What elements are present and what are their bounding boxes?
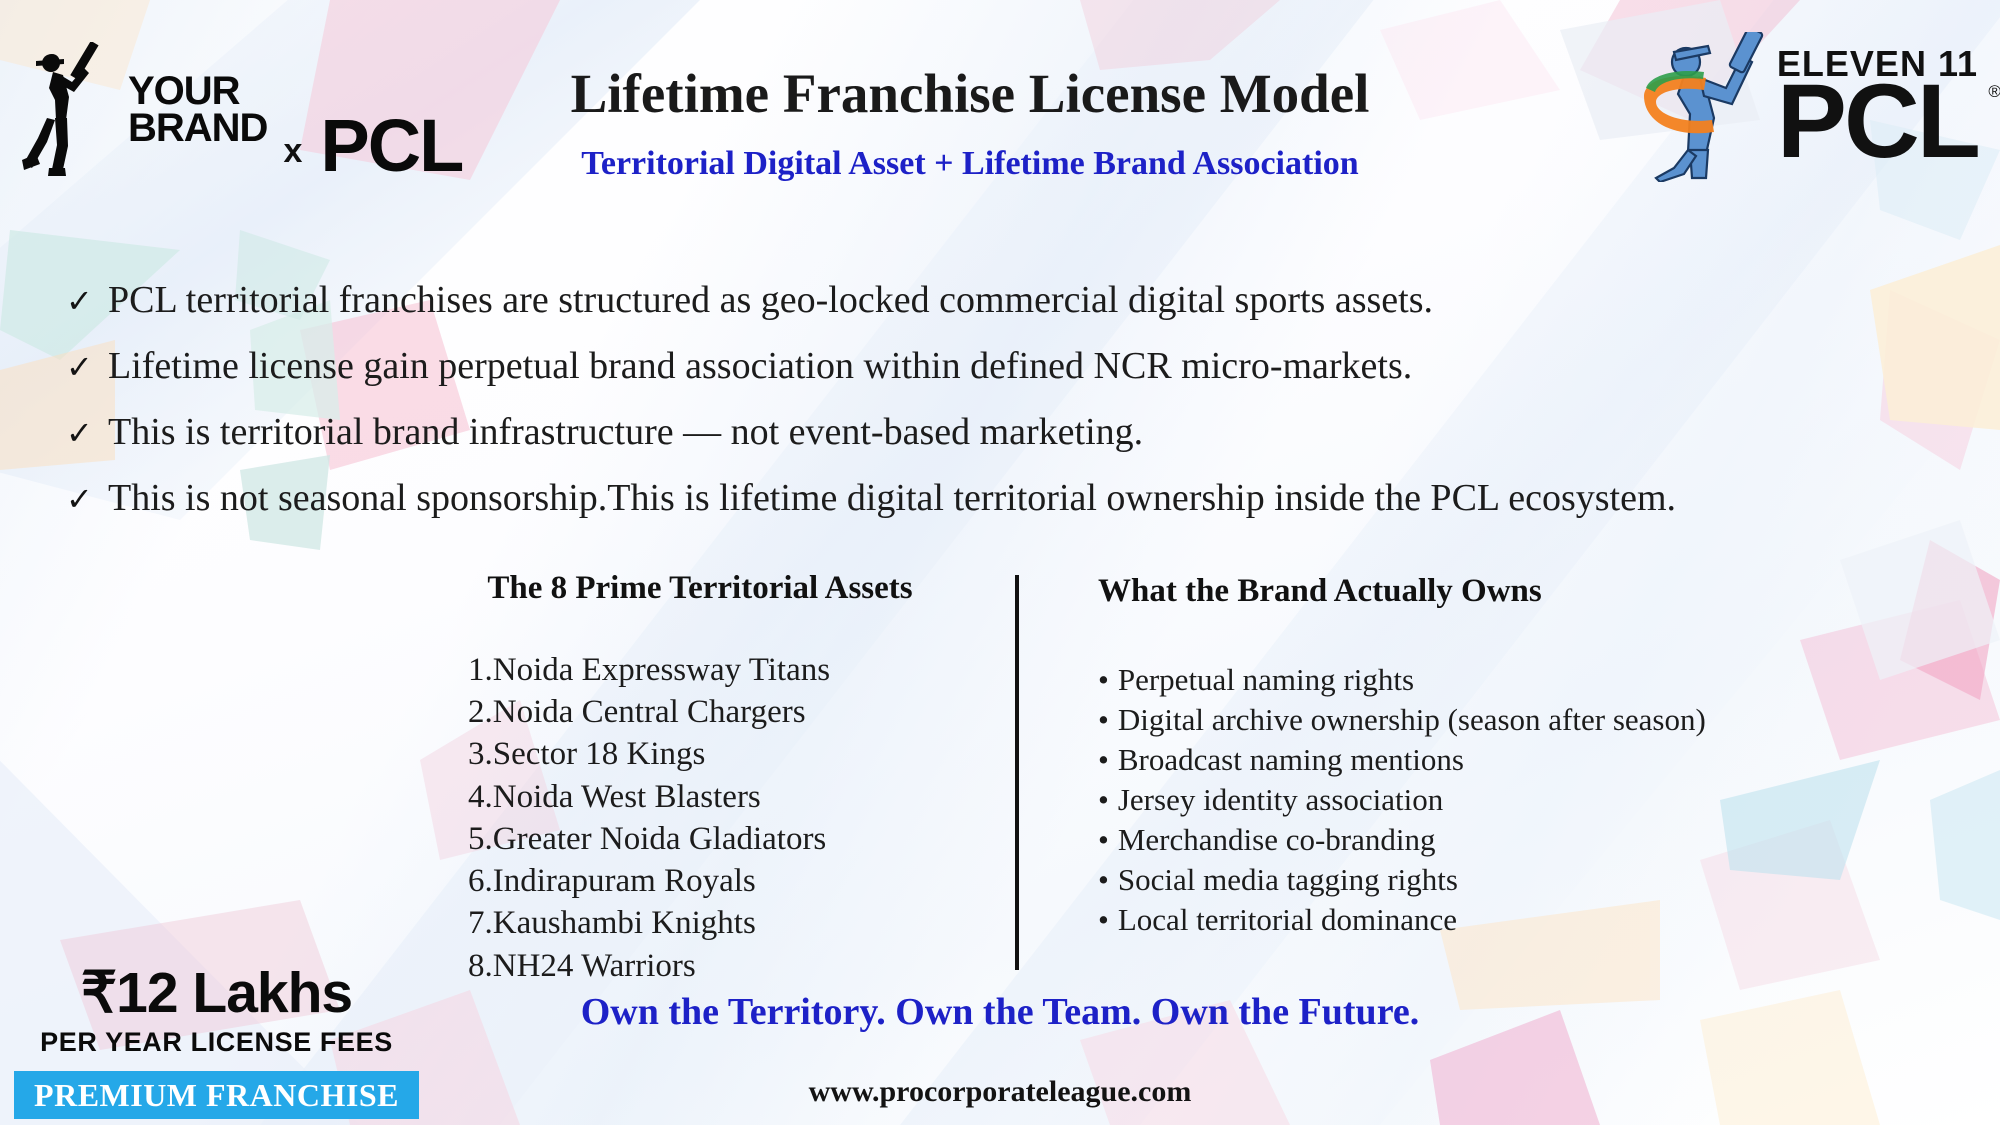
bullet-dot-icon: •	[1098, 782, 1109, 817]
your-brand-line2: BRAND	[128, 110, 267, 147]
check-icon: ✓	[66, 480, 108, 518]
bullet-dot-icon: •	[1098, 742, 1109, 777]
list-item: 1.Noida Expressway Titans	[400, 649, 1000, 691]
registered-trademark-icon: ®	[1988, 85, 1998, 99]
list-item-label: Digital archive ownership (season after …	[1118, 702, 1706, 737]
pcl-wordmark-right: PCL®	[1777, 79, 1978, 165]
bullet-dot-icon: •	[1098, 862, 1109, 897]
list-item-label: Merchandise co-branding	[1118, 822, 1436, 857]
list-item: ✓ Lifetime license gain perpetual brand …	[66, 346, 1966, 387]
territorial-assets-heading: The 8 Prime Territorial Assets	[400, 570, 1000, 607]
website-url[interactable]: www.procorporateleague.com	[0, 1075, 2000, 1109]
list-item: 4.Noida West Blasters	[400, 776, 1000, 818]
bullet-dot-icon: •	[1098, 702, 1109, 737]
pcl-batsman-swoosh-icon	[1634, 32, 1769, 182]
page-subtitle: Territorial Digital Asset + Lifetime Bra…	[430, 145, 1510, 183]
list-item: •Local territorial dominance	[1098, 900, 1878, 940]
bullet-dot-icon: •	[1098, 902, 1109, 937]
pcl-big-text: PCL	[1777, 63, 1978, 180]
slide-header: YOUR BRAND x PCL Lifetime Franchise Lice…	[0, 0, 2000, 210]
bullet-text: This is territorial brand infrastructure…	[108, 412, 1143, 453]
list-item: 5.Greater Noida Gladiators	[400, 818, 1000, 860]
list-item: 7.Kaushambi Knights	[400, 902, 1000, 944]
list-item: ✓ PCL territorial franchises are structu…	[66, 280, 1966, 321]
eleven11-pcl-wordmark: ELEVEN 11 PCL®	[1777, 49, 1978, 165]
bullet-text: This is not seasonal sponsorship.This is…	[108, 478, 1676, 519]
list-item-label: Social media tagging rights	[1118, 862, 1458, 897]
slide-canvas: YOUR BRAND x PCL Lifetime Franchise Lice…	[0, 0, 2000, 1125]
your-brand-pcl-logo: YOUR BRAND x PCL	[22, 42, 462, 177]
brand-owns-column: What the Brand Actually Owns •Perpetual …	[1098, 570, 1878, 940]
list-item: 8.NH24 Warriors	[400, 945, 1000, 987]
list-item: •Jersey identity association	[1098, 780, 1878, 820]
list-item: 2.Noida Central Chargers	[400, 691, 1000, 733]
eleven11-pcl-logo: ELEVEN 11 PCL®	[1634, 32, 1978, 182]
list-item: 6.Indirapuram Royals	[400, 860, 1000, 902]
two-column-section: The 8 Prime Territorial Assets 1.Noida E…	[0, 570, 2000, 970]
list-item: •Perpetual naming rights	[1098, 660, 1878, 700]
your-brand-wordmark: YOUR BRAND	[128, 73, 267, 147]
logo-x-separator: x	[283, 132, 302, 177]
title-block: Lifetime Franchise License Model Territo…	[430, 62, 1510, 183]
list-item: ✓ This is not seasonal sponsorship.This …	[66, 478, 1966, 519]
bullet-text: PCL territorial franchises are structure…	[108, 280, 1433, 321]
list-item: ✓ This is territorial brand infrastructu…	[66, 412, 1966, 453]
check-icon: ✓	[66, 414, 108, 452]
bullet-text: Lifetime license gain perpetual brand as…	[108, 346, 1412, 387]
brand-owns-list: •Perpetual naming rights •Digital archiv…	[1098, 660, 1878, 940]
list-item-label: Perpetual naming rights	[1118, 662, 1414, 697]
list-item-label: Local territorial dominance	[1118, 902, 1457, 937]
list-item: 3.Sector 18 Kings	[400, 733, 1000, 775]
bullet-dot-icon: •	[1098, 822, 1109, 857]
closing-tagline: Own the Territory. Own the Team. Own the…	[0, 990, 2000, 1034]
list-item: •Social media tagging rights	[1098, 860, 1878, 900]
list-item-label: Broadcast naming mentions	[1118, 742, 1464, 777]
list-item-label: Jersey identity association	[1118, 782, 1443, 817]
territorial-assets-list: 1.Noida Expressway Titans 2.Noida Centra…	[400, 649, 1000, 987]
check-icon: ✓	[66, 282, 108, 320]
list-item: •Broadcast naming mentions	[1098, 740, 1878, 780]
list-item: •Merchandise co-branding	[1098, 820, 1878, 860]
column-divider	[1015, 575, 1019, 970]
list-item: •Digital archive ownership (season after…	[1098, 700, 1878, 740]
bullet-dot-icon: •	[1098, 662, 1109, 697]
page-title: Lifetime Franchise License Model	[430, 62, 1510, 125]
key-points-list: ✓ PCL territorial franchises are structu…	[66, 280, 1966, 544]
territorial-assets-column: The 8 Prime Territorial Assets 1.Noida E…	[400, 570, 1000, 987]
brand-owns-heading: What the Brand Actually Owns	[1098, 573, 1878, 610]
your-brand-line1: YOUR	[128, 73, 267, 110]
cricket-batsman-silhouette-icon	[22, 42, 114, 177]
check-icon: ✓	[66, 348, 108, 386]
